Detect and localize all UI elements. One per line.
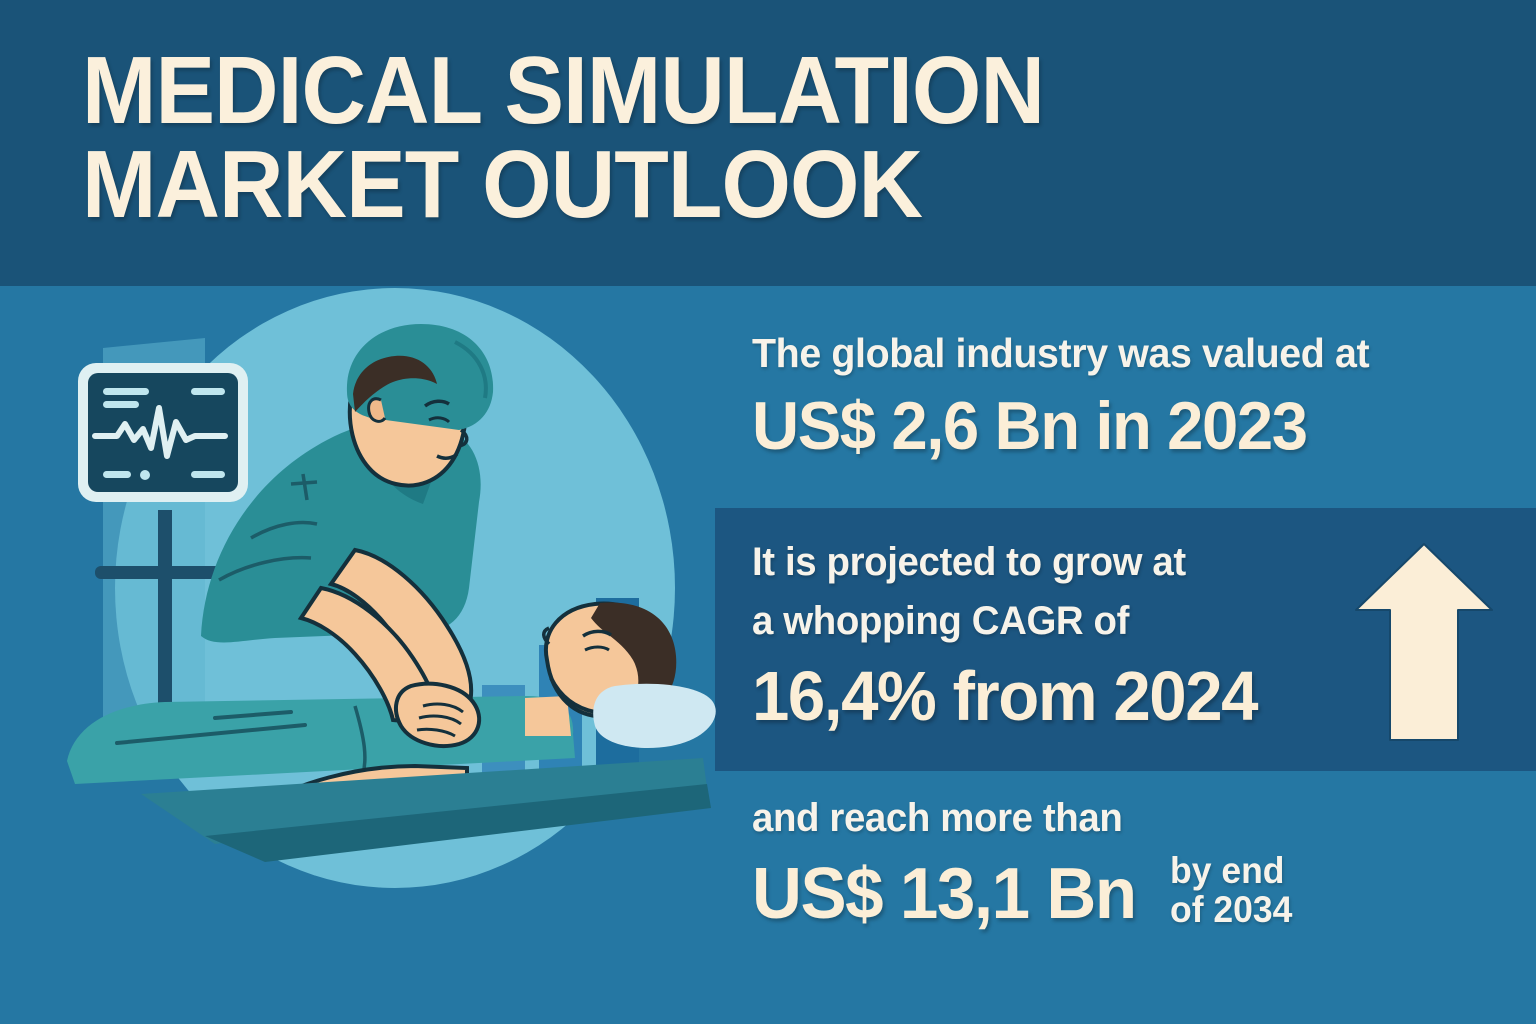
stat-3-note: by end of 2034: [1170, 851, 1292, 929]
stat-1-value: US$ 2,6 Bn in 2023: [752, 387, 1369, 465]
infographic-root: MEDICAL SIMULATION MARKET OUTLOOK: [0, 0, 1536, 1024]
stat-block-cagr: It is projected to grow at a whopping CA…: [752, 540, 1278, 736]
stat-3-value: US$ 13,1 Bn: [752, 853, 1136, 935]
stats-column: The global industry was valued at US$ 2,…: [0, 0, 1536, 1024]
stat-2-value: 16,4% from 2024: [752, 656, 1257, 736]
stat-block-valuation: The global industry was valued at US$ 2,…: [752, 330, 1395, 465]
stat-1-lead: The global industry was valued at: [752, 330, 1369, 377]
stat-2-lead-line-2: a whopping CAGR of: [752, 599, 1257, 644]
stat-2-lead-line-1: It is projected to grow at: [752, 540, 1257, 585]
arrow-up-icon: [1354, 542, 1494, 742]
stat-3-note-line-2: of 2034: [1170, 889, 1292, 930]
stat-3-note-line-1: by end: [1170, 850, 1284, 891]
stat-3-lead: and reach more than: [752, 796, 1275, 841]
stat-block-forecast: and reach more than US$ 13,1 Bn by end o…: [752, 796, 1297, 935]
